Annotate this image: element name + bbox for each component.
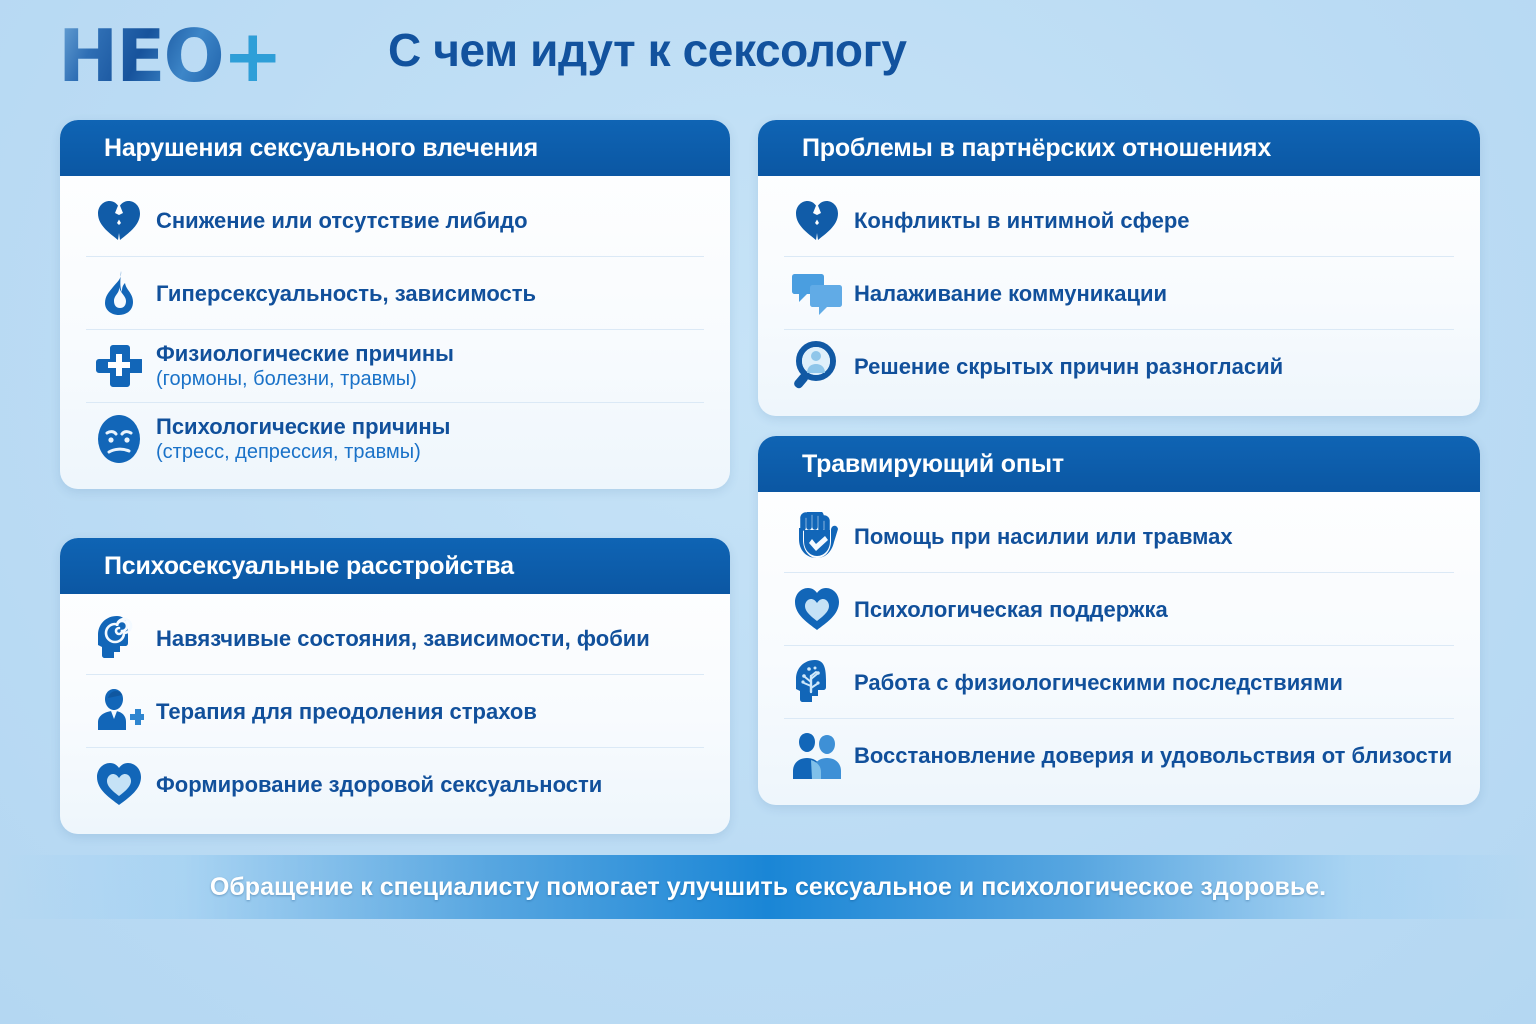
card-partner-relationship-problems: Проблемы в партнёрских отношениях Конфли…	[758, 120, 1480, 416]
page-header: НЕО+ С чем идут к сексологу	[0, 0, 1536, 112]
person-plus-icon	[90, 684, 148, 738]
list-item-label: Решение скрытых причин разногласий	[854, 353, 1283, 380]
list-item-label: Помощь при насилии или травмах	[854, 523, 1233, 550]
card-sexual-desire-disorders: Нарушения сексуального влечения Снижение…	[60, 120, 730, 489]
list-item-text: Психологические причины (стресс, депресс…	[156, 413, 450, 465]
list-item-text: Помощь при насилии или травмах	[854, 523, 1233, 550]
list-item-label: Физиологические причины	[156, 340, 454, 367]
list-item-text: Восстановление доверия и удовольствия от…	[854, 742, 1452, 769]
card-title: Психосексуальные расстройства	[104, 552, 514, 581]
card-body: Помощь при насилии или травмах Психологи…	[758, 492, 1480, 805]
list-item[interactable]: Гиперсексуальность, зависимость	[86, 257, 704, 330]
list-item-label: Формирование здоровой сексуальности	[156, 771, 602, 798]
list-item[interactable]: Психологические причины (стресс, депресс…	[86, 403, 704, 475]
list-item[interactable]: Навязчивые состояния, зависимости, фобии	[86, 602, 704, 675]
card-body: Навязчивые состояния, зависимости, фобии…	[60, 594, 730, 834]
brand-logo-plus: +	[223, 14, 281, 98]
list-item-text: Навязчивые состояния, зависимости, фобии	[156, 625, 650, 652]
brand-logo: НЕО+	[58, 16, 281, 96]
list-item-text: Решение скрытых причин разногласий	[854, 353, 1283, 380]
head-spiral-icon	[90, 611, 148, 665]
card-header: Нарушения сексуального влечения	[60, 120, 730, 176]
card-header: Психосексуальные расстройства	[60, 538, 730, 594]
list-item-text: Работа с физиологическими последствиями	[854, 669, 1343, 696]
list-item-sublabel: (стресс, депрессия, травмы)	[156, 440, 450, 465]
list-item-label: Снижение или отсутствие либидо	[156, 207, 528, 234]
flame-icon	[90, 266, 148, 320]
list-item-label: Гиперсексуальность, зависимость	[156, 280, 536, 307]
card-title: Нарушения сексуального влечения	[104, 134, 538, 163]
list-item-label: Конфликты в интимной сфере	[854, 207, 1190, 234]
card-title: Травмирующий опыт	[802, 450, 1064, 479]
list-item-text: Налаживание коммуникации	[854, 280, 1167, 307]
card-header: Травмирующий опыт	[758, 436, 1480, 492]
brand-logo-text: НЕО	[58, 14, 223, 98]
card-psychosexual-disorders: Психосексуальные расстройства Навязчивые…	[60, 538, 730, 834]
list-item-text: Гиперсексуальность, зависимость	[156, 280, 536, 307]
card-title: Проблемы в партнёрских отношениях	[802, 134, 1271, 163]
list-item-text: Конфликты в интимной сфере	[854, 207, 1190, 234]
sad-face-icon	[90, 412, 148, 466]
list-item-text: Снижение или отсутствие либидо	[156, 207, 528, 234]
list-item[interactable]: Налаживание коммуникации	[784, 257, 1454, 330]
list-item-label: Работа с физиологическими последствиями	[854, 669, 1343, 696]
list-item[interactable]: Восстановление доверия и удовольствия от…	[784, 719, 1454, 791]
list-item[interactable]: Терапия для преодоления страхов	[86, 675, 704, 748]
list-item[interactable]: Конфликты в интимной сфере	[784, 184, 1454, 257]
card-body: Конфликты в интимной сфере Налаживание к…	[758, 176, 1480, 416]
list-item-label: Терапия для преодоления страхов	[156, 698, 537, 725]
card-header: Проблемы в партнёрских отношениях	[758, 120, 1480, 176]
footer-lead: Обращение	[210, 873, 353, 901]
list-item-label: Восстановление доверия и удовольствия от…	[854, 742, 1452, 769]
list-item[interactable]: Физиологические причины (гормоны, болезн…	[86, 330, 704, 403]
broken-heart-icon	[788, 193, 846, 247]
hand-check-icon	[788, 509, 846, 563]
list-item[interactable]: Психологическая поддержка	[784, 573, 1454, 646]
couple-hug-icon	[788, 728, 846, 782]
list-item[interactable]: Помощь при насилии или травмах	[784, 500, 1454, 573]
footer-banner: Обращение к специалисту помогает улучшит…	[0, 855, 1536, 919]
list-item[interactable]: Работа с физиологическими последствиями	[784, 646, 1454, 719]
heart-inner-icon	[788, 582, 846, 636]
list-item-text: Формирование здоровой сексуальности	[156, 771, 602, 798]
footer-middle: к специалисту помогает улучшить	[353, 873, 795, 901]
footer-text: Обращение к специалисту помогает улучшит…	[210, 873, 1326, 902]
list-item-text: Терапия для преодоления страхов	[156, 698, 537, 725]
card-traumatic-experience: Травмирующий опыт Помощь при насилии или…	[758, 436, 1480, 805]
list-item-label: Психологические причины	[156, 413, 450, 440]
magnifier-person-icon	[788, 339, 846, 393]
list-item-text: Психологическая поддержка	[854, 596, 1168, 623]
head-tree-icon	[788, 655, 846, 709]
list-item[interactable]: Снижение или отсутствие либидо	[86, 184, 704, 257]
page-title: С чем идут к сексологу	[388, 23, 907, 77]
footer-tail: сексуальное и психологическое здоровье.	[795, 873, 1326, 901]
list-item-sublabel: (гормоны, болезни, травмы)	[156, 367, 454, 392]
list-item-label: Навязчивые состояния, зависимости, фобии	[156, 625, 650, 652]
list-item-label: Налаживание коммуникации	[854, 280, 1167, 307]
speech-bubbles-icon	[788, 266, 846, 320]
medical-cross-icon	[90, 339, 148, 393]
heart-inner-icon	[90, 757, 148, 811]
list-item[interactable]: Формирование здоровой сексуальности	[86, 748, 704, 820]
list-item[interactable]: Решение скрытых причин разногласий	[784, 330, 1454, 402]
list-item-label: Психологическая поддержка	[854, 596, 1168, 623]
card-body: Снижение или отсутствие либидо Гиперсекс…	[60, 176, 730, 489]
list-item-text: Физиологические причины (гормоны, болезн…	[156, 340, 454, 392]
broken-heart-icon	[90, 193, 148, 247]
